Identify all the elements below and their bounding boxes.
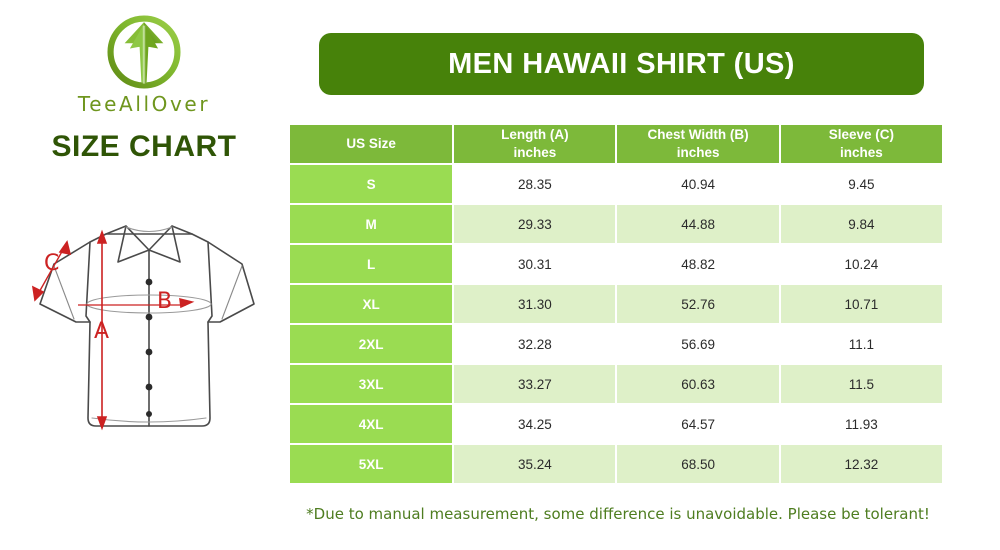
cell-sleeve: 9.84 [781,205,942,243]
cell-size: L [290,245,452,283]
title-text: MEN HAWAII SHIRT (US) [448,48,795,81]
column-header-length: Length (A) inches [454,125,615,163]
column-header-sleeve: Sleeve (C) inches [781,125,942,163]
table-row: 5XL 35.24 68.50 12.32 [290,445,942,483]
table-row: S 28.35 40.94 9.45 [290,165,942,203]
marker-label-a: A [94,319,109,344]
table-row: L 30.31 48.82 10.24 [290,245,942,283]
column-header-us-size: US Size [290,125,452,163]
cell-sleeve: 11.93 [781,405,942,443]
cell-chest: 52.76 [617,285,778,323]
title-banner: MEN HAWAII SHIRT (US) [319,33,924,95]
marker-label-c: C [44,251,59,276]
marker-label-b: B [157,289,172,314]
cell-sleeve: 10.24 [781,245,942,283]
cell-sleeve: 11.5 [781,365,942,403]
cell-chest: 56.69 [617,325,778,363]
brand-logo: TeeAllOver [0,8,288,116]
cell-length: 32.28 [454,325,615,363]
column-header-chest-width: Chest Width (B) inches [617,125,778,163]
cell-length: 34.25 [454,405,615,443]
cell-size: 2XL [290,325,452,363]
cell-length: 33.27 [454,365,615,403]
cell-size: XL [290,285,452,323]
size-chart-table: US Size Length (A) inches Chest Width (B… [288,123,944,485]
table-row: 4XL 34.25 64.57 11.93 [290,405,942,443]
cell-sleeve: 9.45 [781,165,942,203]
table-row: 2XL 32.28 56.69 11.1 [290,325,942,363]
cell-size: S [290,165,452,203]
table-row: M 29.33 44.88 9.84 [290,205,942,243]
brand-wordmark: TeeAllOver [0,92,288,116]
table-row: XL 31.30 52.76 10.71 [290,285,942,323]
cell-length: 35.24 [454,445,615,483]
cell-chest: 68.50 [617,445,778,483]
cell-length: 29.33 [454,205,615,243]
cell-chest: 44.88 [617,205,778,243]
cell-chest: 40.94 [617,165,778,203]
cell-size: 5XL [290,445,452,483]
left-panel: TeeAllOver SIZE CHART [0,0,288,550]
table-header-row: US Size Length (A) inches Chest Width (B… [290,125,942,163]
cell-length: 30.31 [454,245,615,283]
cell-length: 28.35 [454,165,615,203]
cell-sleeve: 10.71 [781,285,942,323]
cell-sleeve: 12.32 [781,445,942,483]
cell-length: 31.30 [454,285,615,323]
page-title: SIZE CHART [0,130,288,164]
cell-chest: 48.82 [617,245,778,283]
cell-size: 3XL [290,365,452,403]
cell-chest: 60.63 [617,365,778,403]
teeallover-tree-logo-icon [100,8,188,96]
cell-sleeve: 11.1 [781,325,942,363]
cell-chest: 64.57 [617,405,778,443]
cell-size: 4XL [290,405,452,443]
table-row: 3XL 33.27 60.63 11.5 [290,365,942,403]
hawaii-shirt-measurement-diagram: A B C [18,186,280,486]
cell-size: M [290,205,452,243]
measurement-disclaimer: *Due to manual measurement, some differe… [288,505,948,523]
